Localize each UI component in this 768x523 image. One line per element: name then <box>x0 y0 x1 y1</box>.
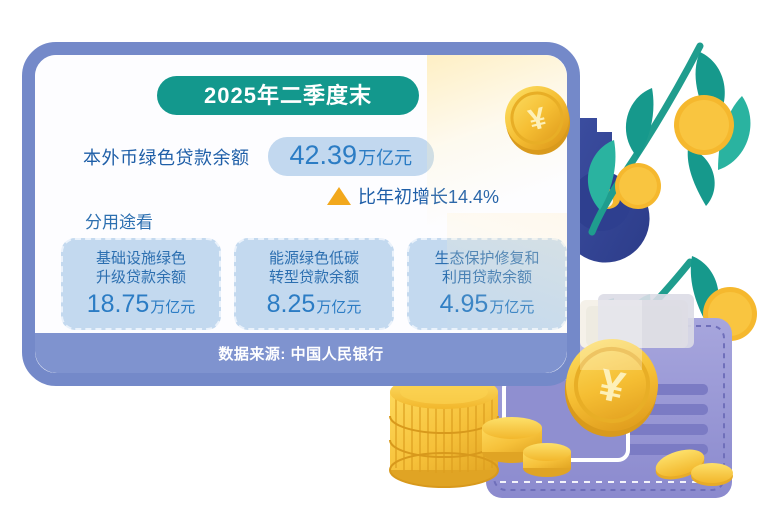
frame-inner: 2025年二季度末 本外币绿色贷款余额 42.39 万亿元 比年初增长14.4%… <box>35 55 567 373</box>
category-unit: 万亿元 <box>489 300 534 315</box>
headline-unit: 万亿元 <box>358 149 412 167</box>
infographic-frame: 2025年二季度末 本外币绿色贷款余额 42.39 万亿元 比年初增长14.4%… <box>22 42 580 386</box>
source-text: 数据来源: 中国人民银行 <box>218 343 383 364</box>
category-card-list: 基础设施绿色 升级贷款余额 18.75 万亿元 能源绿色低碳 转型贷款余额 8.… <box>61 238 567 330</box>
page-title: 2025年二季度末 <box>204 85 372 107</box>
card-slip <box>598 294 694 348</box>
category-value-wrap: 8.25 万亿元 <box>267 292 362 317</box>
leaf-icon <box>688 148 715 206</box>
fruit-icon <box>679 100 729 150</box>
source-bar: 数据来源: 中国人民银行 <box>35 333 567 373</box>
fruit-icon <box>619 167 657 205</box>
category-unit: 万亿元 <box>150 300 195 315</box>
category-label: 生态保护修复和 利用贷款余额 <box>434 249 539 287</box>
section-label: 分用途看 <box>85 208 153 233</box>
growth-row: 比年初增长14.4% <box>327 183 499 209</box>
category-value-wrap: 18.75 万亿元 <box>87 292 196 317</box>
growth-text: 比年初增长14.4% <box>358 183 499 209</box>
infographic-canvas: 2025年二季度末 本外币绿色贷款余额 42.39 万亿元 比年初增长14.4%… <box>0 0 768 523</box>
category-value-wrap: 4.95 万亿元 <box>440 292 535 317</box>
category-label: 能源绿色低碳 转型贷款余额 <box>269 249 359 287</box>
headline-label: 本外币绿色贷款余额 <box>83 144 250 170</box>
category-label: 基础设施绿色 升级贷款余额 <box>96 249 186 287</box>
title-pill: 2025年二季度末 <box>157 76 419 115</box>
headline-row: 本外币绿色贷款余额 42.39 万亿元 <box>83 137 553 176</box>
triangle-up-icon <box>327 187 351 205</box>
category-unit: 万亿元 <box>316 300 361 315</box>
category-card: 能源绿色低碳 转型贷款余额 8.25 万亿元 <box>234 238 394 330</box>
leaf-icon <box>626 88 654 158</box>
headline-value: 42.39 <box>290 142 358 169</box>
coin-stack-icon <box>390 375 498 487</box>
category-value: 8.25 <box>267 292 316 317</box>
category-value: 18.75 <box>87 292 150 317</box>
category-value: 4.95 <box>440 292 489 317</box>
category-card: 基础设施绿色 升级贷款余额 18.75 万亿元 <box>61 238 221 330</box>
headline-value-pill: 42.39 万亿元 <box>268 137 435 176</box>
category-card: 生态保护修复和 利用贷款余额 4.95 万亿元 <box>407 238 567 330</box>
